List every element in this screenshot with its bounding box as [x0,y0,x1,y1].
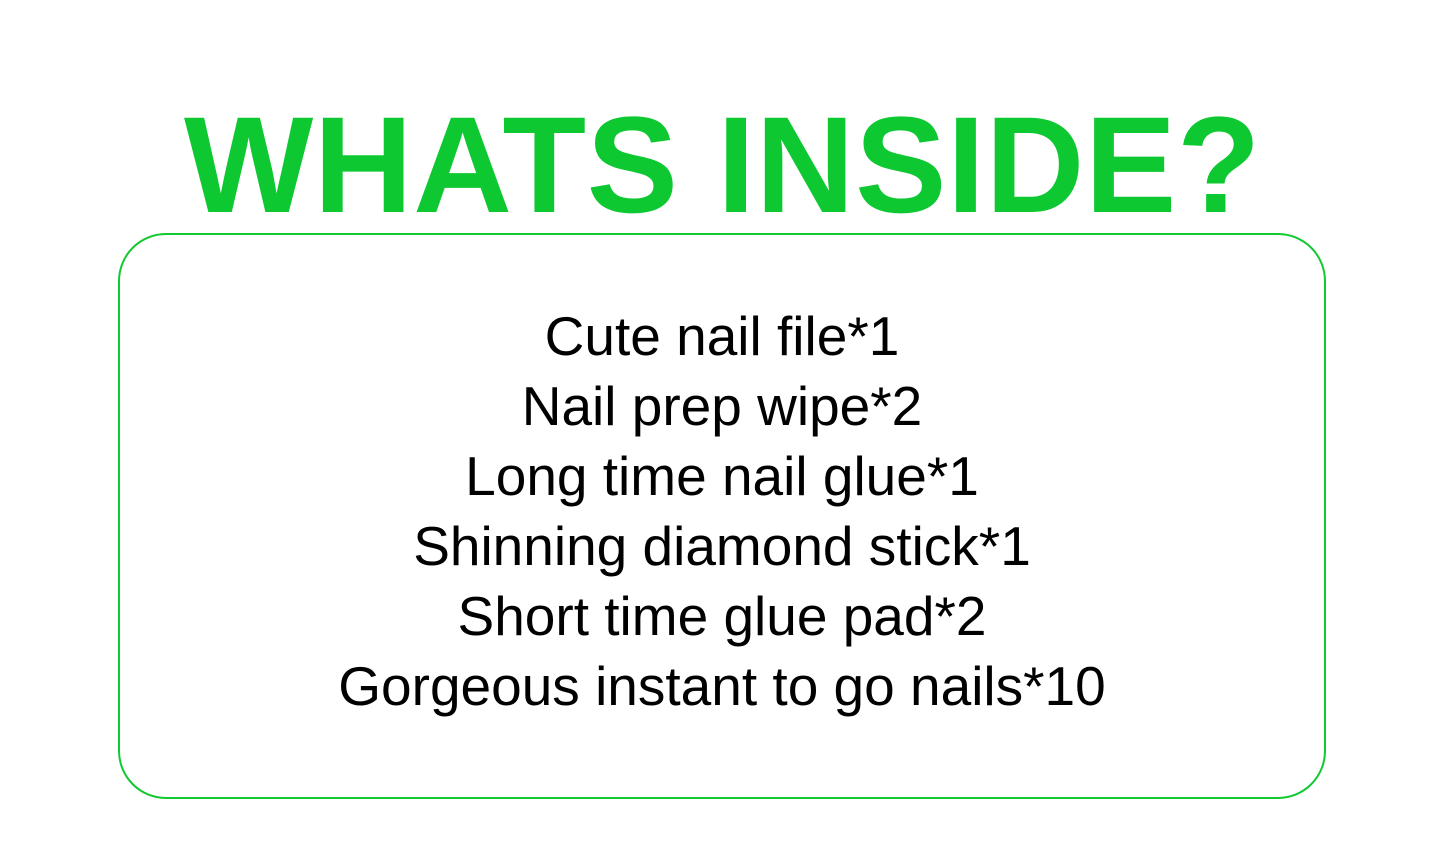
list-item: Long time nail glue*1 [120,441,1324,511]
list-item: Short time glue pad*2 [120,581,1324,651]
contents-card: Cute nail file*1 Nail prep wipe*2 Long t… [118,233,1326,799]
page-title: WHATS INSIDE? [0,92,1445,252]
list-item: Gorgeous instant to go nails*10 [120,651,1324,721]
list-item: Nail prep wipe*2 [120,371,1324,441]
included-items-list: Cute nail file*1 Nail prep wipe*2 Long t… [120,301,1324,721]
poster-canvas: WHATS INSIDE? Cute nail file*1 Nail prep… [0,0,1445,861]
list-item: Shinning diamond stick*1 [120,511,1324,581]
list-item: Cute nail file*1 [120,301,1324,371]
